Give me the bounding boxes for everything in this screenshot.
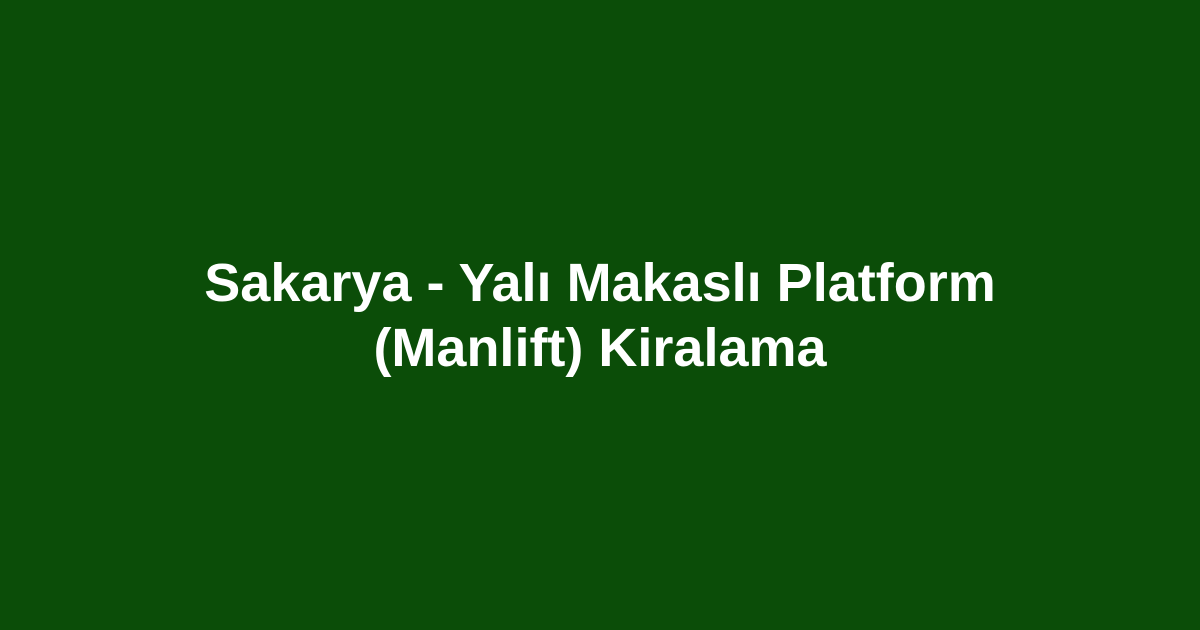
social-preview-card: Sakarya - Yalı Makaslı Platform (Manlift… <box>0 0 1200 630</box>
title-block: Sakarya - Yalı Makaslı Platform (Manlift… <box>190 251 1010 381</box>
page-title: Sakarya - Yalı Makaslı Platform (Manlift… <box>190 251 1010 381</box>
